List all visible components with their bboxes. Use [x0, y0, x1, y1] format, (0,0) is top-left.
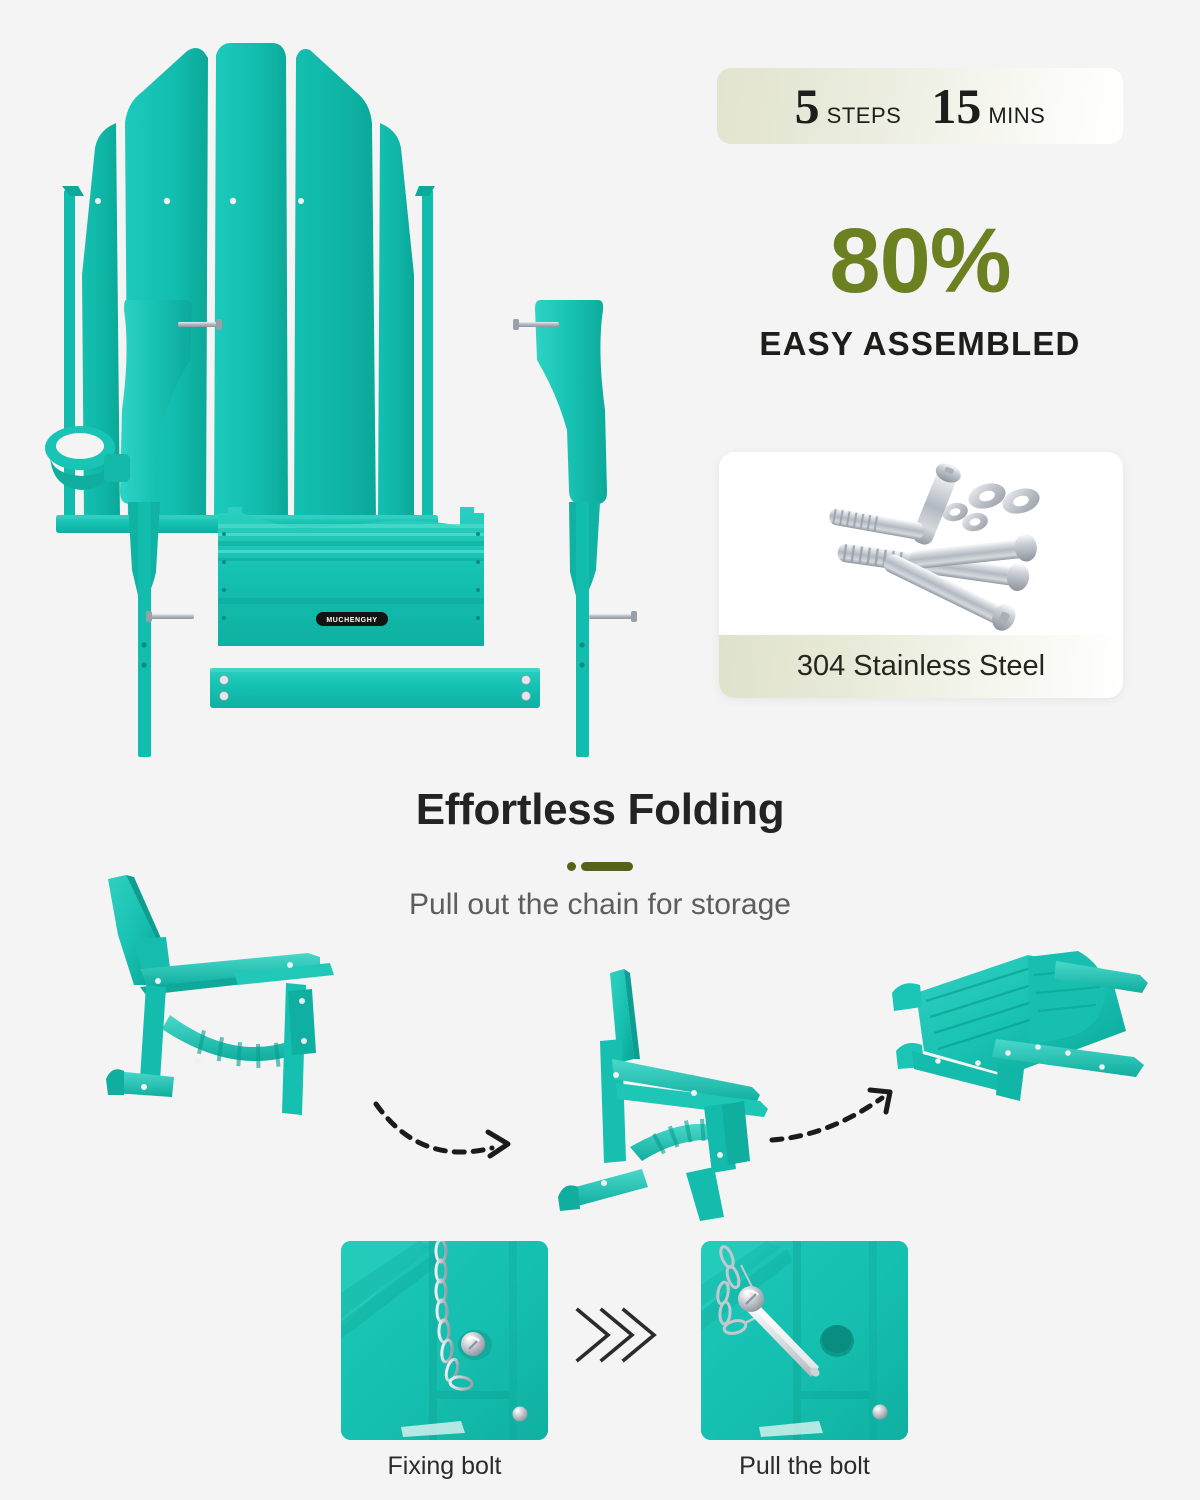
- stainless-steel-caption: 304 Stainless Steel: [719, 635, 1123, 698]
- mins-group: 15 MINS: [931, 81, 1045, 131]
- svg-text:MUCHENGHY: MUCHENGHY: [326, 617, 377, 624]
- stainless-steel-photo: [719, 452, 1123, 635]
- divider-dot: [567, 862, 576, 871]
- detail-panel-fixing-bolt: [341, 1241, 548, 1440]
- folding-stage-3-folded-flat: [878, 935, 1168, 1115]
- rivet: [511, 1405, 531, 1425]
- seat-assembly: MUCHENGHY: [218, 507, 484, 646]
- rivet: [871, 1403, 891, 1423]
- cross-brace-bar: [210, 668, 540, 708]
- seated-bolt: [458, 1330, 492, 1360]
- exploded-chair-parts-illustration: MUCHENGHY: [20, 10, 720, 770]
- folding-stage-1-assembled: [62, 865, 402, 1125]
- washers: [940, 479, 1042, 533]
- steps-value: 5: [795, 81, 820, 131]
- empty-bolt-hole: [820, 1325, 854, 1357]
- brand-plate: MUCHENGHY: [316, 612, 388, 626]
- percent-headline: 80%: [717, 215, 1123, 307]
- bolt: [828, 507, 925, 540]
- product-infographic: MUCHENGHY 5 STEPS 15 MINS 80% EASY ASSEM…: [0, 0, 1200, 1500]
- steps-unit: STEPS: [827, 103, 902, 129]
- steps-time-badge: 5 STEPS 15 MINS: [717, 68, 1123, 144]
- detail-caption-left: Fixing bolt: [341, 1452, 548, 1481]
- percent-subtitle: EASY ASSEMBLED: [717, 325, 1123, 363]
- detail-caption-right: Pull the bolt: [701, 1452, 908, 1481]
- steps-group: 5 STEPS: [795, 81, 902, 131]
- mins-unit: MINS: [988, 103, 1045, 129]
- mins-value: 15: [931, 81, 981, 131]
- detail-panel-pull-the-bolt: [701, 1241, 908, 1440]
- triple-chevron-right-icon: [566, 1298, 666, 1372]
- divider-bar: [581, 862, 633, 871]
- section-title: Effortless Folding: [0, 785, 1200, 835]
- curved-dashed-arrow-icon: [362, 1082, 542, 1192]
- stainless-steel-card: 304 Stainless Steel: [719, 452, 1123, 698]
